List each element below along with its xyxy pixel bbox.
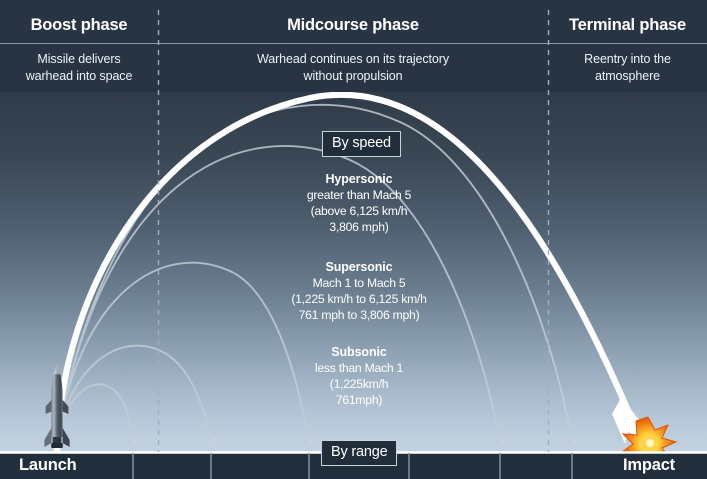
guides-layer [0,0,707,479]
ground-label-impact: Impact [623,456,675,475]
missile-trajectory-infographic: Boost phase Missile delivers warhead int… [0,0,707,479]
ground-label-launch: Launch [19,456,76,475]
by-speed-callout: By speed [322,131,401,157]
by-range-callout: By range [321,440,397,466]
